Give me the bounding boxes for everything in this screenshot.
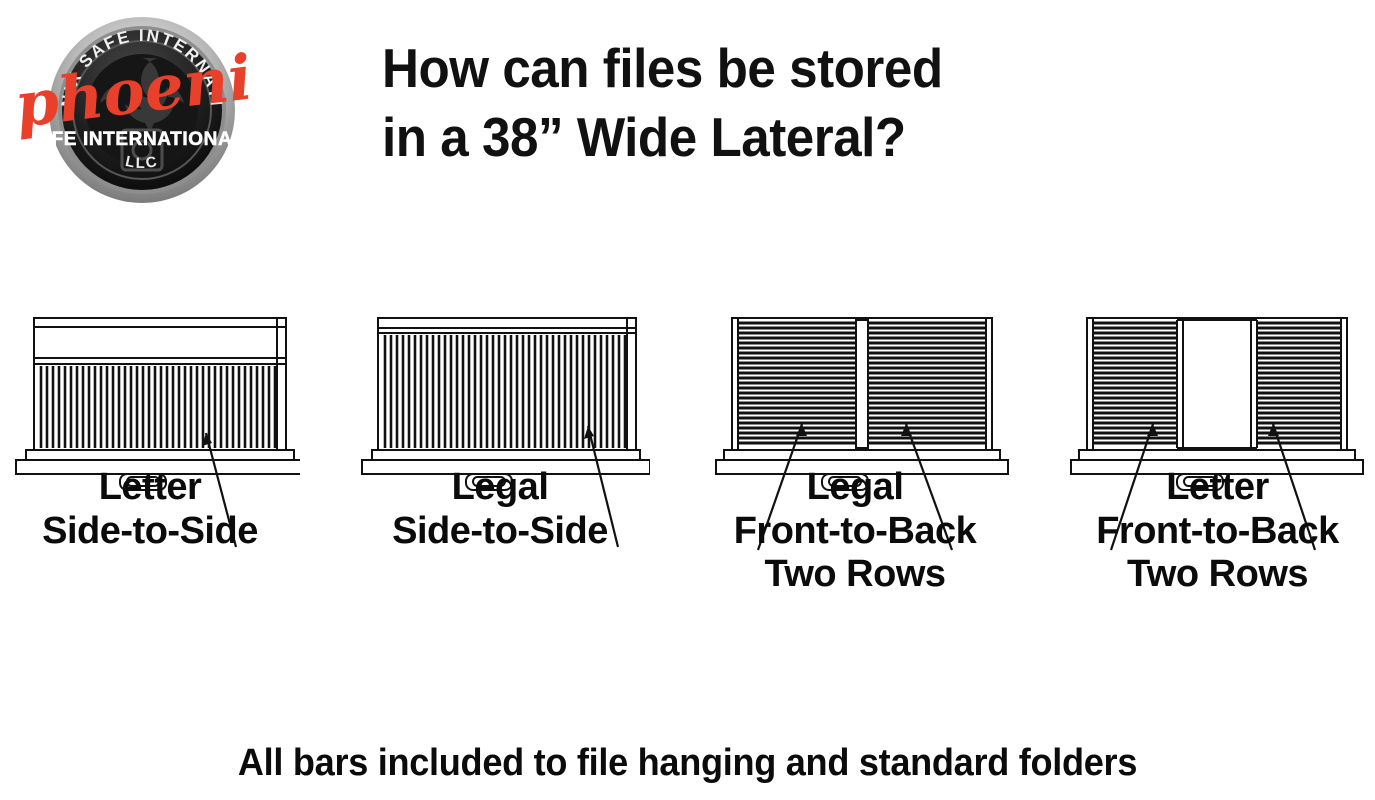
phoenix-safe-logo: PHOENIX SAFE INTERNATIONAL LLC SAFE INTE…	[14, 12, 250, 208]
caption-letter-front-to-back-two-rows: Letter Front-to-Back Two Rows	[1060, 466, 1375, 597]
caption-line: Front-to-Back	[1060, 510, 1375, 554]
svg-text:LLC: LLC	[124, 153, 160, 172]
poster-canvas: PHOENIX SAFE INTERNATIONAL LLC SAFE INTE…	[0, 0, 1375, 800]
diagram-legal-side-to-side	[350, 300, 650, 630]
page-title-line-2: in a 38” Wide Lateral?	[382, 103, 1089, 172]
caption-line: Letter	[0, 466, 300, 510]
caption-line: Legal	[700, 466, 1010, 510]
caption-line: Letter	[1060, 466, 1375, 510]
phoenix-safe-badge-icon: PHOENIX SAFE INTERNATIONAL LLC SAFE INTE…	[14, 12, 250, 208]
file-drawer-vertical-dividers-icon	[350, 300, 650, 630]
caption-line: Side-to-Side	[0, 510, 300, 554]
caption-line: Two Rows	[1060, 553, 1375, 597]
diagram-letter-side-to-side	[0, 300, 300, 630]
footer-note: All bars included to file hanging and st…	[34, 742, 1340, 785]
caption-letter-side-to-side: Letter Side-to-Side	[0, 466, 300, 553]
page-title-line-1: How can files be stored	[382, 34, 1089, 103]
file-drawer-vertical-dividers-icon	[0, 300, 300, 630]
caption-legal-side-to-side: Legal Side-to-Side	[350, 466, 650, 553]
caption-line: Front-to-Back	[700, 510, 1010, 554]
caption-line: Two Rows	[700, 553, 1010, 597]
page-title: How can files be stored in a 38” Wide La…	[382, 34, 1089, 173]
caption-legal-front-to-back-two-rows: Legal Front-to-Back Two Rows	[700, 466, 1010, 597]
caption-line: Side-to-Side	[350, 510, 650, 554]
caption-line: Legal	[350, 466, 650, 510]
